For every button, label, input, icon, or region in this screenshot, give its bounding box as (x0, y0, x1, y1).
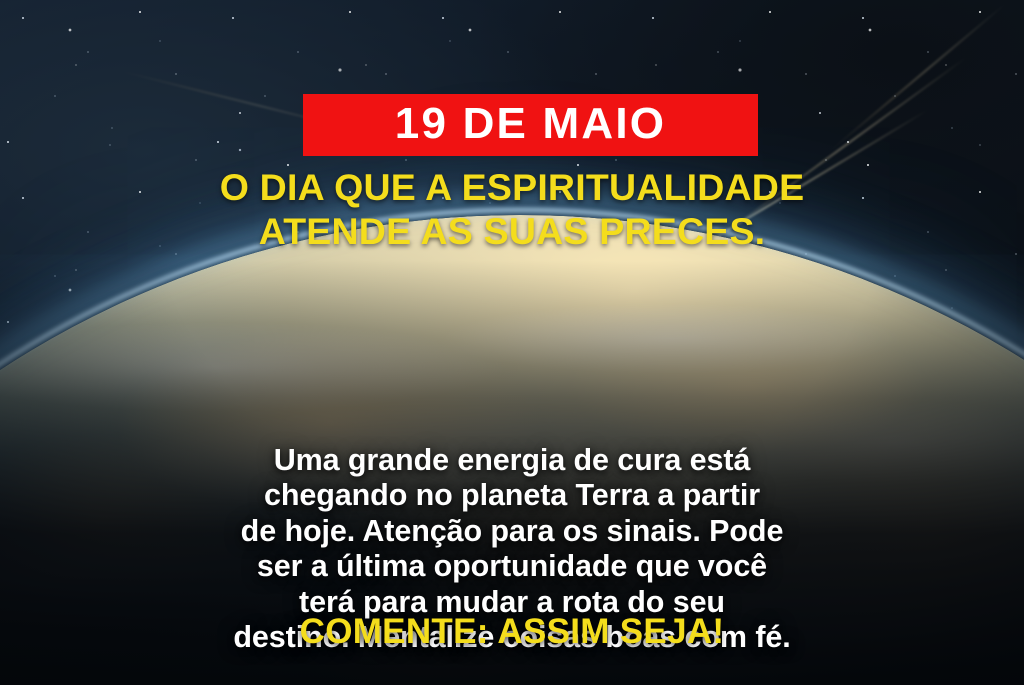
body-line-4: ser a última oportunidade que você (72, 549, 952, 584)
body-line-2: chegando no planeta Terra a partir (72, 478, 952, 513)
poster-content: 19 DE MAIO O DIA QUE A ESPIRITUALIDADE A… (0, 0, 1024, 685)
date-banner: 19 DE MAIO (303, 94, 758, 156)
call-to-action: COMENTE: ASSIM SEJA! (0, 613, 1024, 652)
headline: O DIA QUE A ESPIRITUALIDADE ATENDE AS SU… (0, 166, 1024, 253)
body-line-3: de hoje. Atenção para os sinais. Pode (72, 514, 952, 549)
body-line-1: Uma grande energia de cura está (72, 443, 952, 478)
poster-canvas: 19 DE MAIO O DIA QUE A ESPIRITUALIDADE A… (0, 0, 1024, 685)
headline-line-2: ATENDE AS SUAS PRECES. (0, 210, 1024, 254)
cta-label: COMENTE: ASSIM SEJA! (300, 612, 725, 651)
headline-line-1: O DIA QUE A ESPIRITUALIDADE (0, 166, 1024, 210)
date-banner-label: 19 DE MAIO (395, 102, 666, 146)
